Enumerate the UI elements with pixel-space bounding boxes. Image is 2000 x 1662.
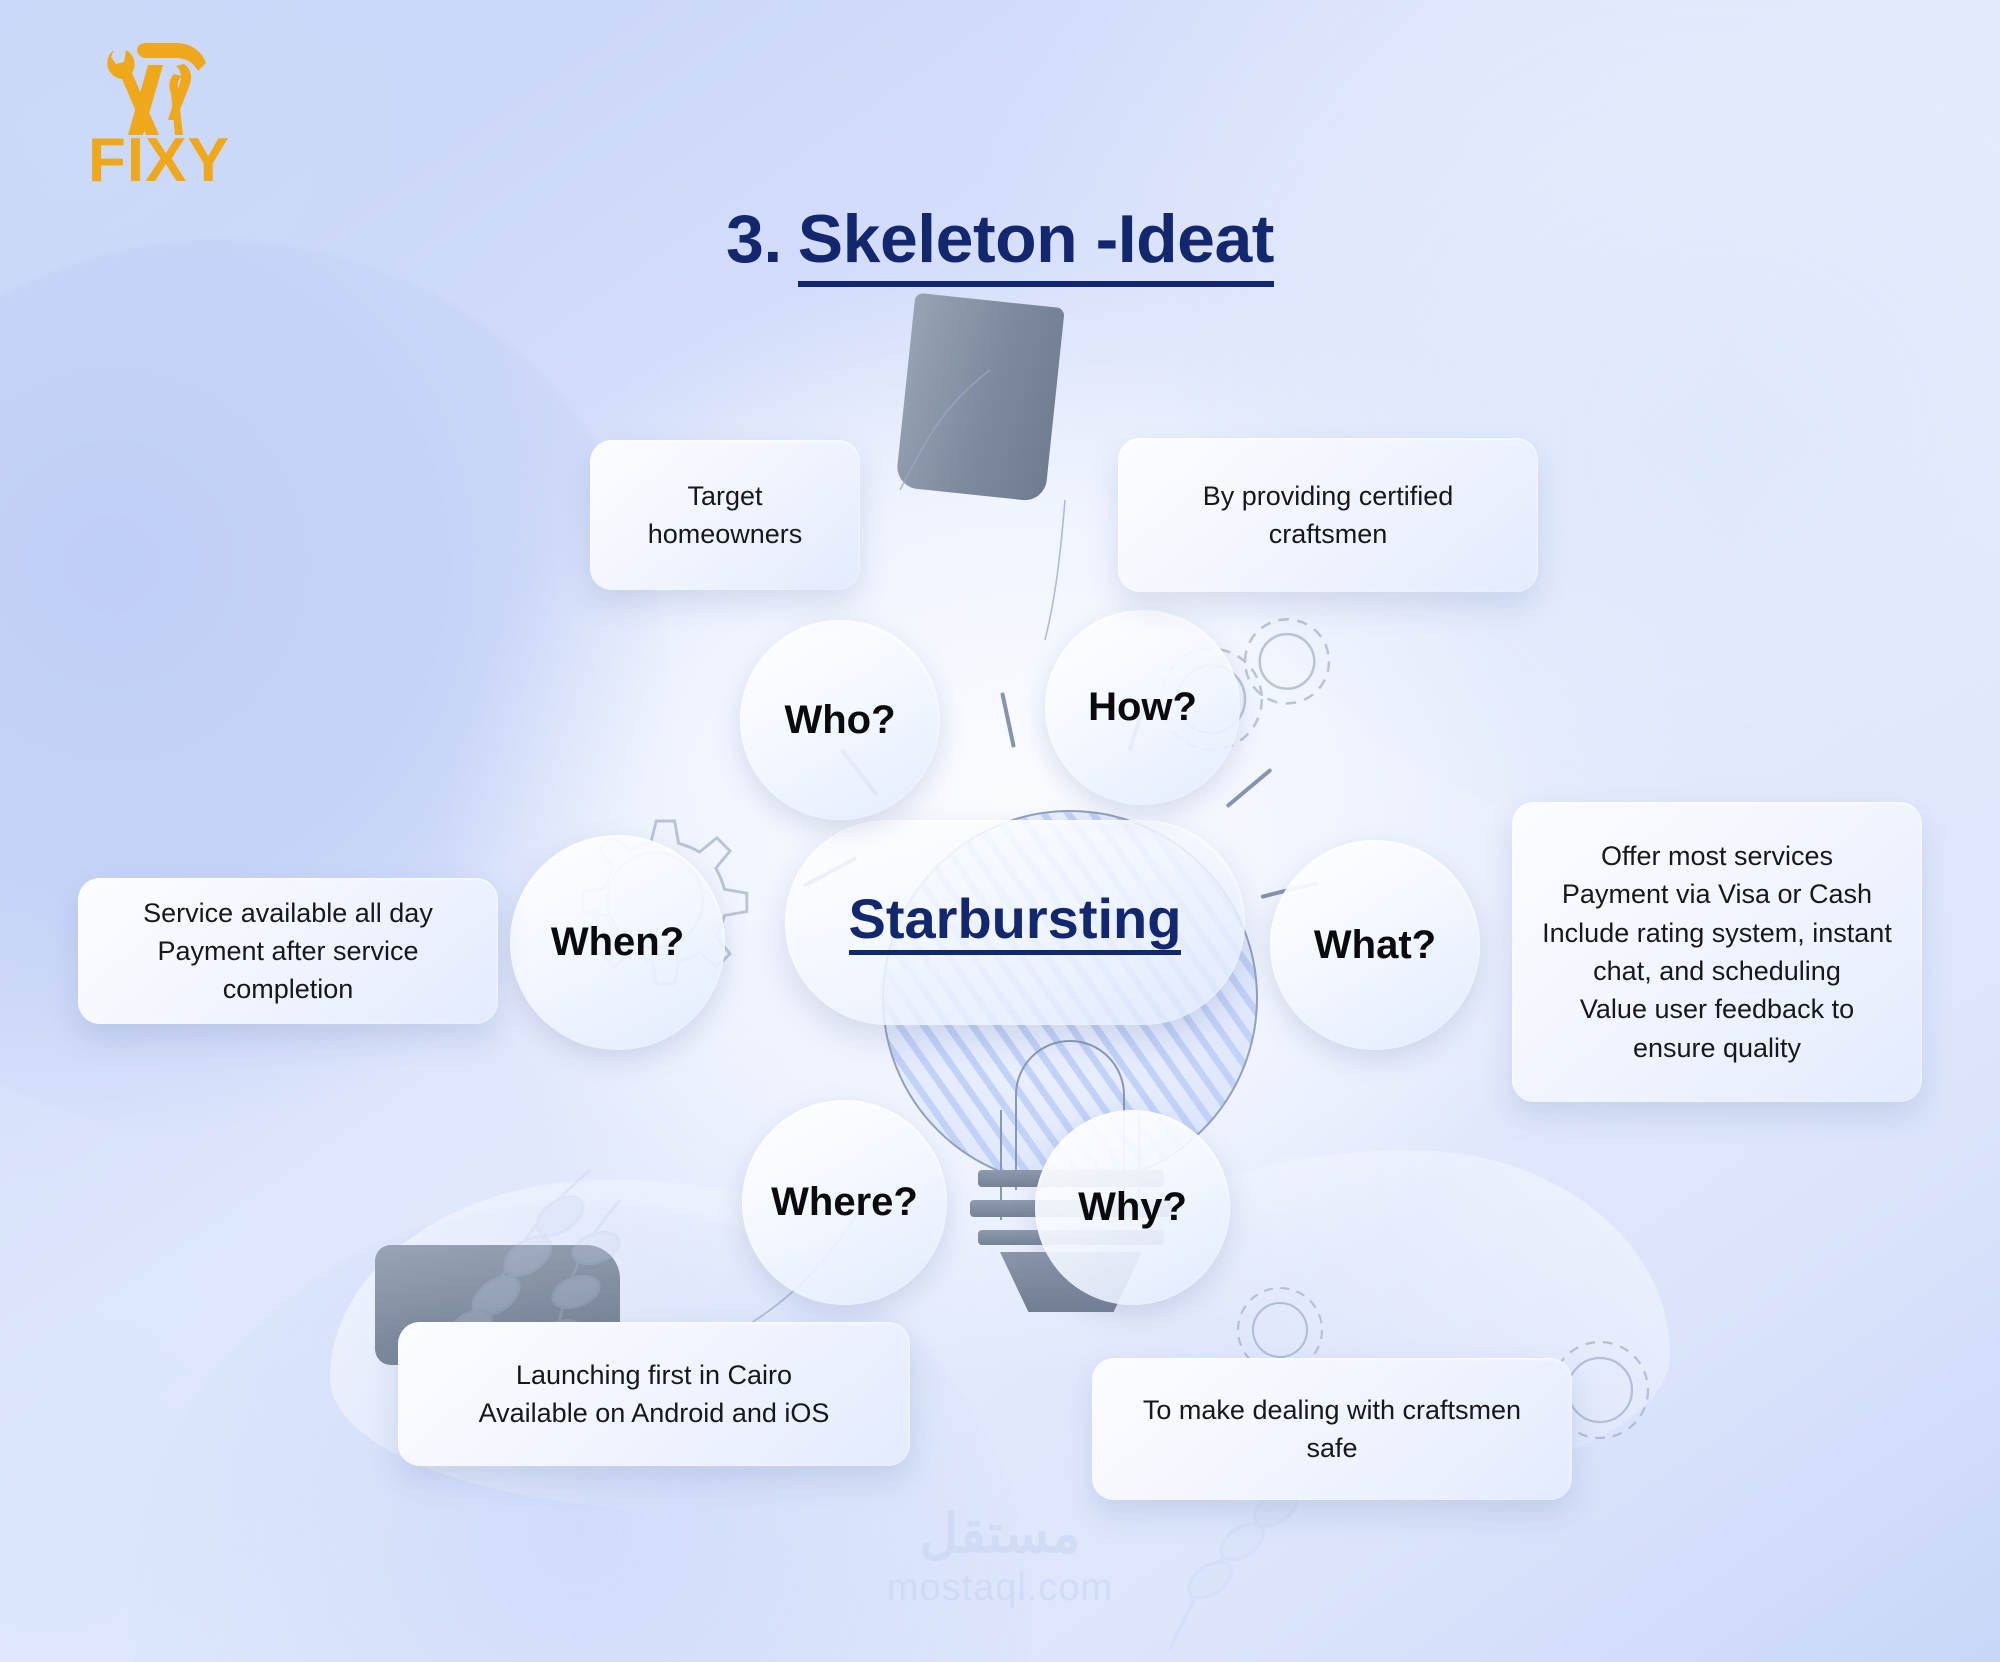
card-when[interactable]: Service available all day Payment after … [78,878,498,1024]
card-what[interactable]: Offer most services Payment via Visa or … [1512,802,1922,1102]
node-when-label: When? [551,920,684,965]
node-who[interactable]: Who? [740,620,940,820]
node-why[interactable]: Why? [1035,1110,1230,1305]
page-title: 3.Skeleton -Ideat [0,200,2000,278]
node-what-label: What? [1314,923,1436,968]
title-text: Skeleton -Ideat [798,201,1274,287]
illustration-sleeve-top [895,293,1065,503]
card-who-text: Target homeowners [616,477,834,554]
brand-name: FIXY [88,130,268,192]
card-where-text: Launching first in Cairo Available on An… [479,1356,830,1433]
card-what-text: Offer most services Payment via Visa or … [1538,837,1896,1067]
watermark-latin: mostaql.com [887,1567,1113,1610]
card-when-text: Service available all day Payment after … [104,894,472,1009]
center-node-label: Starbursting [849,890,1182,956]
node-why-label: Why? [1078,1185,1187,1230]
node-who-label: Who? [784,698,895,743]
card-who[interactable]: Target homeowners [590,440,860,590]
card-why-text: To make dealing with craftsmen safe [1118,1391,1546,1468]
node-how-label: How? [1088,685,1197,730]
node-what[interactable]: What? [1270,840,1480,1050]
node-when[interactable]: When? [510,835,725,1050]
card-how[interactable]: By providing certified craftsmen [1118,438,1538,592]
card-why[interactable]: To make dealing with craftsmen safe [1092,1358,1572,1500]
watermark-arabic: مستقل [887,1507,1113,1561]
brand-logo: FIXY [88,38,268,188]
card-where[interactable]: Launching first in Cairo Available on An… [398,1322,910,1466]
node-how[interactable]: How? [1045,610,1240,805]
card-how-text: By providing certified craftsmen [1144,477,1512,554]
title-number: 3. [726,201,782,277]
center-node[interactable]: Starbursting [785,820,1245,1025]
node-where-label: Where? [771,1180,918,1225]
node-where[interactable]: Where? [742,1100,947,1305]
watermark: مستقل mostaql.com [887,1507,1113,1610]
slide-canvas: FIXY 3.Skeleton -Ideat Starbursting Who?… [0,0,2000,1662]
